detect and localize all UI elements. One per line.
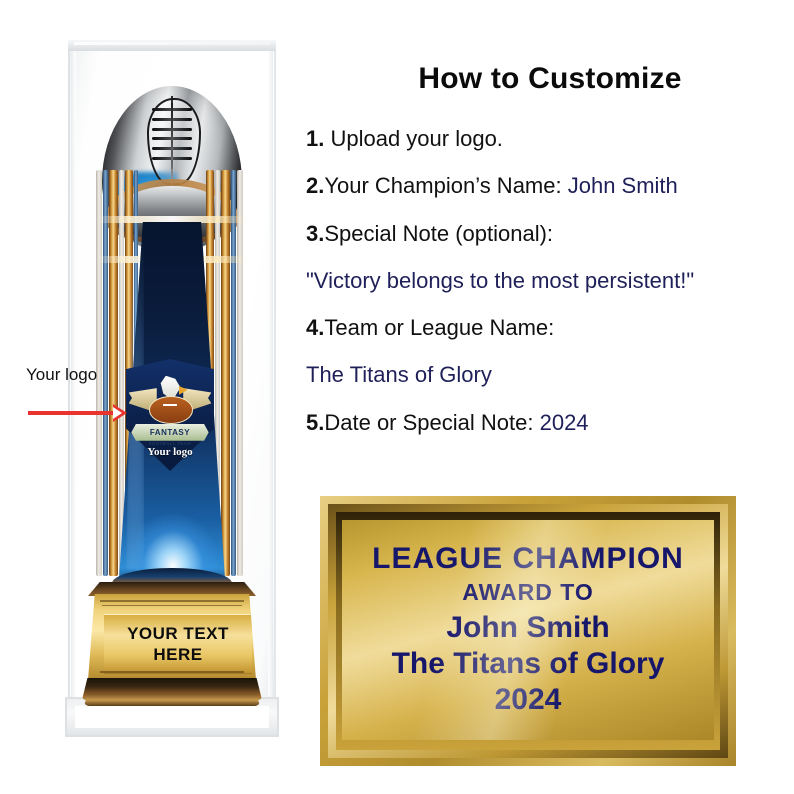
step-number: 5. — [306, 410, 324, 435]
step-label: Special Note (optional): — [324, 221, 553, 246]
custom-logo-emblem[interactable]: FANTASY FOOTBALL TEAM Your logo — [126, 359, 214, 471]
your-logo-annotation-label: Your logo — [26, 365, 97, 385]
plaque-line-3: John Smith — [446, 610, 609, 646]
customize-steps-list: 1. Upload your logo. 2.Your Champion’s N… — [306, 126, 794, 435]
case-right-edge — [268, 50, 273, 701]
team-name-value: The Titans of Glory — [306, 362, 794, 387]
plaque-line-5: 2024 — [495, 682, 562, 718]
engraving-plate[interactable]: YOUR TEXT HERE — [88, 594, 256, 680]
step-number: 1. — [306, 126, 324, 151]
annotation-arrow-head-inner — [113, 407, 122, 419]
emblem-football-icon — [149, 396, 193, 424]
annotation-arrow-line — [28, 411, 120, 415]
plaque-line-4: The Titans of Glory — [392, 646, 665, 682]
cage-column — [109, 170, 118, 576]
plate-bevel-line — [100, 671, 244, 673]
how-to-customize-panel: How to Customize 1. Upload your logo. 2.… — [306, 62, 794, 457]
base-plate-line-2: HERE — [153, 644, 202, 665]
award-plaque-preview: LEAGUE CHAMPION AWARD TO John Smith The … — [320, 496, 736, 766]
trophy-product-image: FANTASY FOOTBALL TEAM Your logo YOUR TEX… — [0, 0, 310, 794]
champion-name-value: John Smith — [568, 173, 678, 198]
plaque-face: LEAGUE CHAMPION AWARD TO John Smith The … — [342, 520, 714, 740]
special-note-value: "Victory belongs to the most persistent!… — [306, 268, 794, 293]
date-value: 2024 — [540, 410, 589, 435]
emblem-ribbon: FANTASY — [131, 424, 208, 441]
step-label: Upload your logo. — [324, 126, 503, 151]
football-trophy: FANTASY FOOTBALL TEAM Your logo YOUR TEX… — [82, 62, 262, 717]
step-label: Date or Special Note: — [324, 410, 539, 435]
base-plate-line-1: YOUR TEXT — [127, 623, 229, 644]
plate-bevel-line — [100, 600, 244, 602]
base-foot — [84, 694, 260, 706]
step-item-3: 3.Special Note (optional): — [306, 221, 794, 246]
plaque-line-2: AWARD TO — [462, 575, 594, 610]
page-canvas: FANTASY FOOTBALL TEAM Your logo YOUR TEX… — [0, 0, 794, 794]
cage-ring — [96, 216, 248, 223]
page-title: How to Customize — [306, 62, 794, 96]
engraving-plate-inner: YOUR TEXT HERE — [104, 614, 252, 674]
step-number: 2. — [306, 173, 324, 198]
step-item-2: 2.Your Champion’s Name: John Smith — [306, 173, 794, 198]
step-item-5: 5.Date or Special Note: 2024 — [306, 410, 794, 435]
plaque-line-1: LEAGUE CHAMPION — [372, 542, 684, 575]
cage-column — [119, 170, 124, 576]
step-number: 4. — [306, 315, 324, 340]
emblem-football-lace — [163, 404, 177, 406]
case-top-cap — [68, 40, 276, 51]
cage-column — [231, 170, 236, 576]
emblem-ribbon-text: FANTASY — [150, 428, 190, 437]
emblem-logo-placeholder-text: Your logo — [126, 446, 214, 458]
cage-column — [103, 170, 108, 576]
cage-column — [221, 170, 230, 576]
step-number: 3. — [306, 221, 324, 246]
step-item-4: 4.Team or League Name: — [306, 315, 794, 340]
base-top-bevel — [88, 582, 256, 596]
case-top-highlight — [74, 42, 270, 45]
step-label: Team or League Name: — [324, 315, 554, 340]
step-label: Your Champion’s Name: — [324, 173, 567, 198]
trophy-base: YOUR TEXT HERE — [82, 582, 262, 714]
plate-bevel-line — [102, 605, 242, 606]
step-item-1: 1. Upload your logo. — [306, 126, 794, 151]
cage-column — [237, 170, 243, 576]
